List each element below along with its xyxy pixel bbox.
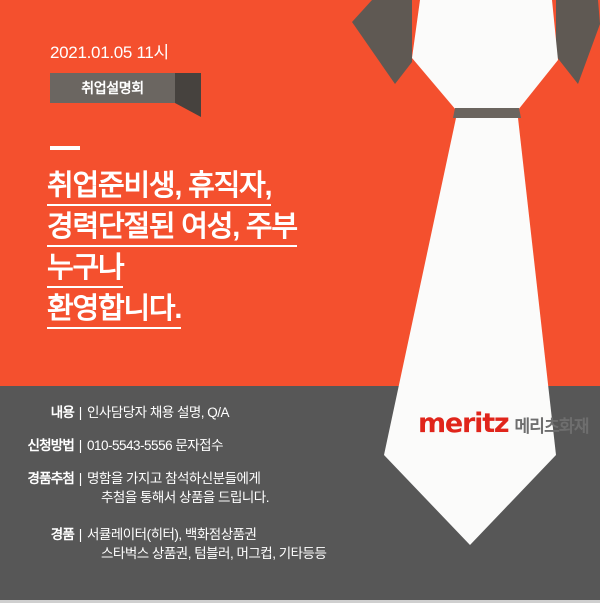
info-row-content: 내용 | 인사담당자 채용 설명, Q/A: [0, 403, 360, 422]
logo-korean-name: 메리츠화재: [514, 412, 588, 437]
info-divider: |: [74, 469, 87, 488]
headline: 취업준비생, 휴직자, 경력단절된 여성, 주부 누구나 환영합니다.: [47, 166, 297, 330]
info-divider: |: [74, 525, 87, 544]
info-value-line-2: 추첨을 통해서 상품을 드립니다.: [101, 488, 360, 507]
badge-ribbon-tail: [175, 73, 201, 117]
accent-dash: [50, 146, 80, 150]
info-label: 경품추첨: [0, 469, 74, 488]
info-divider: |: [74, 436, 87, 455]
tie-knot-band: [453, 108, 521, 118]
info-value: 명함을 가지고 참석하신분들에게 추첨을 통해서 상품을 드립니다.: [87, 469, 360, 507]
category-badge-label: 취업설명회: [81, 78, 143, 98]
info-value: 서큘레이터(히터), 백화점상품권 스타벅스 상품권, 텀블러, 머그컵, 기타…: [87, 525, 360, 563]
headline-line-2: 경력단절된 여성, 주부: [47, 207, 297, 248]
tie-body: [384, 118, 556, 545]
event-datetime: 2021.01.05 11시: [50, 38, 169, 63]
info-block: 내용 | 인사담당자 채용 설명, Q/A 신청방법 | 010-5543-55…: [0, 403, 360, 577]
info-value: 010-5543-5556 문자접수: [87, 436, 360, 455]
info-value-line-1: 명함을 가지고 참석하신분들에게: [87, 471, 260, 486]
info-value-line-1: 서큘레이터(히터), 백화점상품권: [87, 527, 256, 542]
info-row-prizes: 경품 | 서큘레이터(히터), 백화점상품권 스타벅스 상품권, 텀블러, 머그…: [0, 525, 360, 563]
info-value-line-2: 스타벅스 상품권, 텀블러, 머그컵, 기타등등: [101, 544, 360, 563]
info-value: 인사담당자 채용 설명, Q/A: [87, 403, 360, 422]
info-label: 경품: [0, 525, 74, 544]
headline-line-1: 취업준비생, 휴직자,: [47, 166, 297, 207]
headline-line-3: 누구나: [47, 248, 297, 289]
info-row-prize-draw: 경품추첨 | 명함을 가지고 참석하신분들에게 추첨을 통해서 상품을 드립니다…: [0, 469, 360, 507]
info-label: 내용: [0, 403, 74, 422]
tie-knot: [412, 0, 558, 110]
collar-wing-right: [556, 0, 600, 84]
info-row-apply-method: 신청방법 | 010-5543-5556 문자접수: [0, 436, 360, 455]
info-divider: |: [74, 403, 87, 422]
logo-wordmark: meritz: [418, 408, 508, 439]
info-label: 신청방법: [0, 436, 74, 455]
meritz-logo: meritz 메리츠화재: [418, 408, 589, 439]
info-value-line-1: 010-5543-5556 문자접수: [87, 438, 223, 453]
info-value-line-1: 인사담당자 채용 설명, Q/A: [87, 405, 229, 420]
headline-line-4: 환영합니다.: [47, 289, 297, 330]
collar-wing-left: [352, 0, 412, 84]
poster-canvas: meritz 메리츠화재 2021.01.05 11시 취업설명회 취업준비생,…: [0, 0, 600, 603]
category-badge: 취업설명회: [50, 73, 175, 103]
